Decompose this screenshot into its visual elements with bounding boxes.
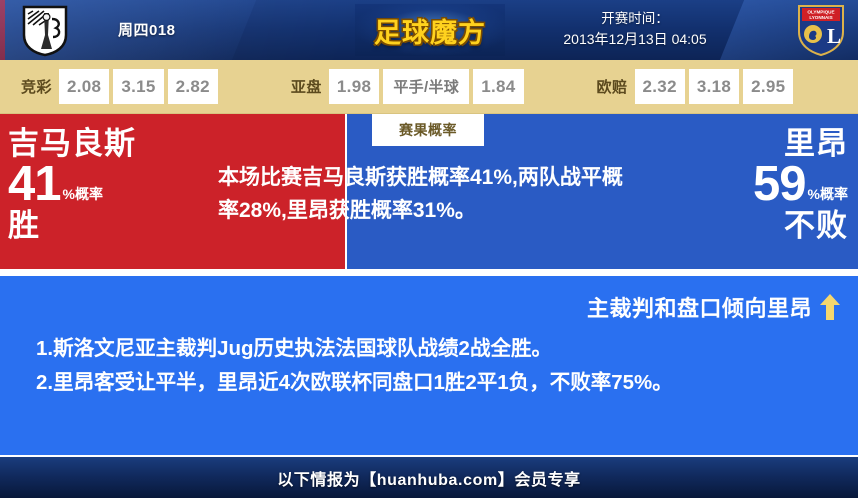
page-footer: 以下情报为【huanhuba.com】会员专享 — [0, 455, 858, 498]
odds-cell-jingcai-draw[interactable]: 3.15 — [113, 69, 163, 104]
odds-cell-oupei-away[interactable]: 2.95 — [743, 69, 793, 104]
odds-cell-oupei-draw[interactable]: 3.18 — [689, 69, 739, 104]
away-team-crest-icon: OLYMPIQUE LYONNAIS L — [792, 2, 850, 58]
away-probability-value: 59 — [753, 161, 806, 208]
home-probability-result: 胜 — [8, 210, 198, 241]
probability-section: 吉马良斯 41 %概率 胜 赛果概率 本场比赛吉马良斯获胜概率41%,两队战平概… — [0, 114, 858, 269]
odds-cell-yapan-home[interactable]: 1.98 — [329, 69, 379, 104]
section-divider — [0, 269, 858, 276]
home-team-crest-icon — [18, 3, 72, 58]
away-probability-unit: %概率 — [808, 187, 848, 201]
odds-cell-jingcai-home[interactable]: 2.08 — [59, 69, 109, 104]
odds-group-label-yapan: 亚盘 — [284, 76, 329, 97]
brand-logo: 足球魔方 — [355, 4, 505, 56]
odds-bar: 竞彩 2.08 3.15 2.82 亚盘 1.98 平手/半球 1.84 欧赔 … — [0, 60, 858, 114]
analysis-headline-row: 主裁判和盘口倾向里昂 — [14, 290, 844, 324]
analysis-item: 2.里昂客受让平半，里昂近4次欧联杯同盘口1胜2平1负，不败率75%。 — [36, 366, 844, 399]
odds-group-label-oupei: 欧赔 — [590, 76, 635, 97]
page-header: 周四018 足球魔方 开赛时间： 2013年12月13日 04:05 OLYMP… — [0, 0, 858, 60]
odds-group-label-jingcai: 竞彩 — [14, 76, 59, 97]
odds-group-yapan: 亚盘 1.98 平手/半球 1.84 — [284, 69, 528, 104]
arrow-up-icon — [820, 294, 840, 320]
analysis-item: 1.斯洛文尼亚主裁判Jug历史执法法国球队战绩2战全胜。 — [36, 332, 844, 365]
odds-cell-jingcai-away[interactable]: 2.82 — [168, 69, 218, 104]
match-number: 周四018 — [118, 19, 176, 40]
kickoff-label: 开赛时间： — [510, 9, 760, 29]
odds-cell-yapan-handicap[interactable]: 平手/半球 — [383, 69, 469, 104]
probability-summary: 本场比赛吉马良斯获胜概率41%,两队战平概率28%,里昂获胜概率31%。 — [218, 161, 628, 227]
home-probability-unit: %概率 — [63, 187, 103, 201]
svg-text:LYONNAIS: LYONNAIS — [809, 15, 832, 20]
odds-group-oupei: 欧赔 2.32 3.18 2.95 — [590, 69, 798, 104]
tab-result-probability[interactable]: 赛果概率 — [372, 114, 484, 146]
svg-text:L: L — [827, 24, 841, 48]
away-probability-text: 里昂 59 %概率 不败 — [638, 128, 848, 241]
analysis-section: 主裁判和盘口倾向里昂 1.斯洛文尼亚主裁判Jug历史执法法国球队战绩2战全胜。 … — [0, 276, 858, 468]
analysis-headline: 主裁判和盘口倾向里昂 — [587, 291, 812, 323]
kickoff-time-block: 开赛时间： 2013年12月13日 04:05 — [510, 9, 760, 49]
away-team-name: 里昂 — [638, 128, 848, 159]
kickoff-value: 2013年12月13日 04:05 — [510, 29, 760, 49]
svg-text:OLYMPIQUE: OLYMPIQUE — [807, 10, 834, 15]
home-team-name: 吉马良斯 — [8, 128, 198, 159]
away-probability-result: 不败 — [638, 210, 848, 241]
match-preview-page: 周四018 足球魔方 开赛时间： 2013年12月13日 04:05 OLYMP… — [0, 0, 858, 498]
brand-logo-text: 足球魔方 — [374, 11, 486, 50]
odds-cell-oupei-home[interactable]: 2.32 — [635, 69, 685, 104]
odds-cell-yapan-away[interactable]: 1.84 — [473, 69, 523, 104]
home-probability-value: 41 — [8, 161, 61, 208]
analysis-items: 1.斯洛文尼亚主裁判Jug历史执法法国球队战绩2战全胜。 2.里昂客受让平半，里… — [14, 332, 844, 399]
odds-group-jingcai: 竞彩 2.08 3.15 2.82 — [14, 69, 222, 104]
footer-notice: 以下情报为【huanhuba.com】会员专享 — [277, 466, 581, 490]
home-probability-text: 吉马良斯 41 %概率 胜 — [8, 128, 198, 241]
